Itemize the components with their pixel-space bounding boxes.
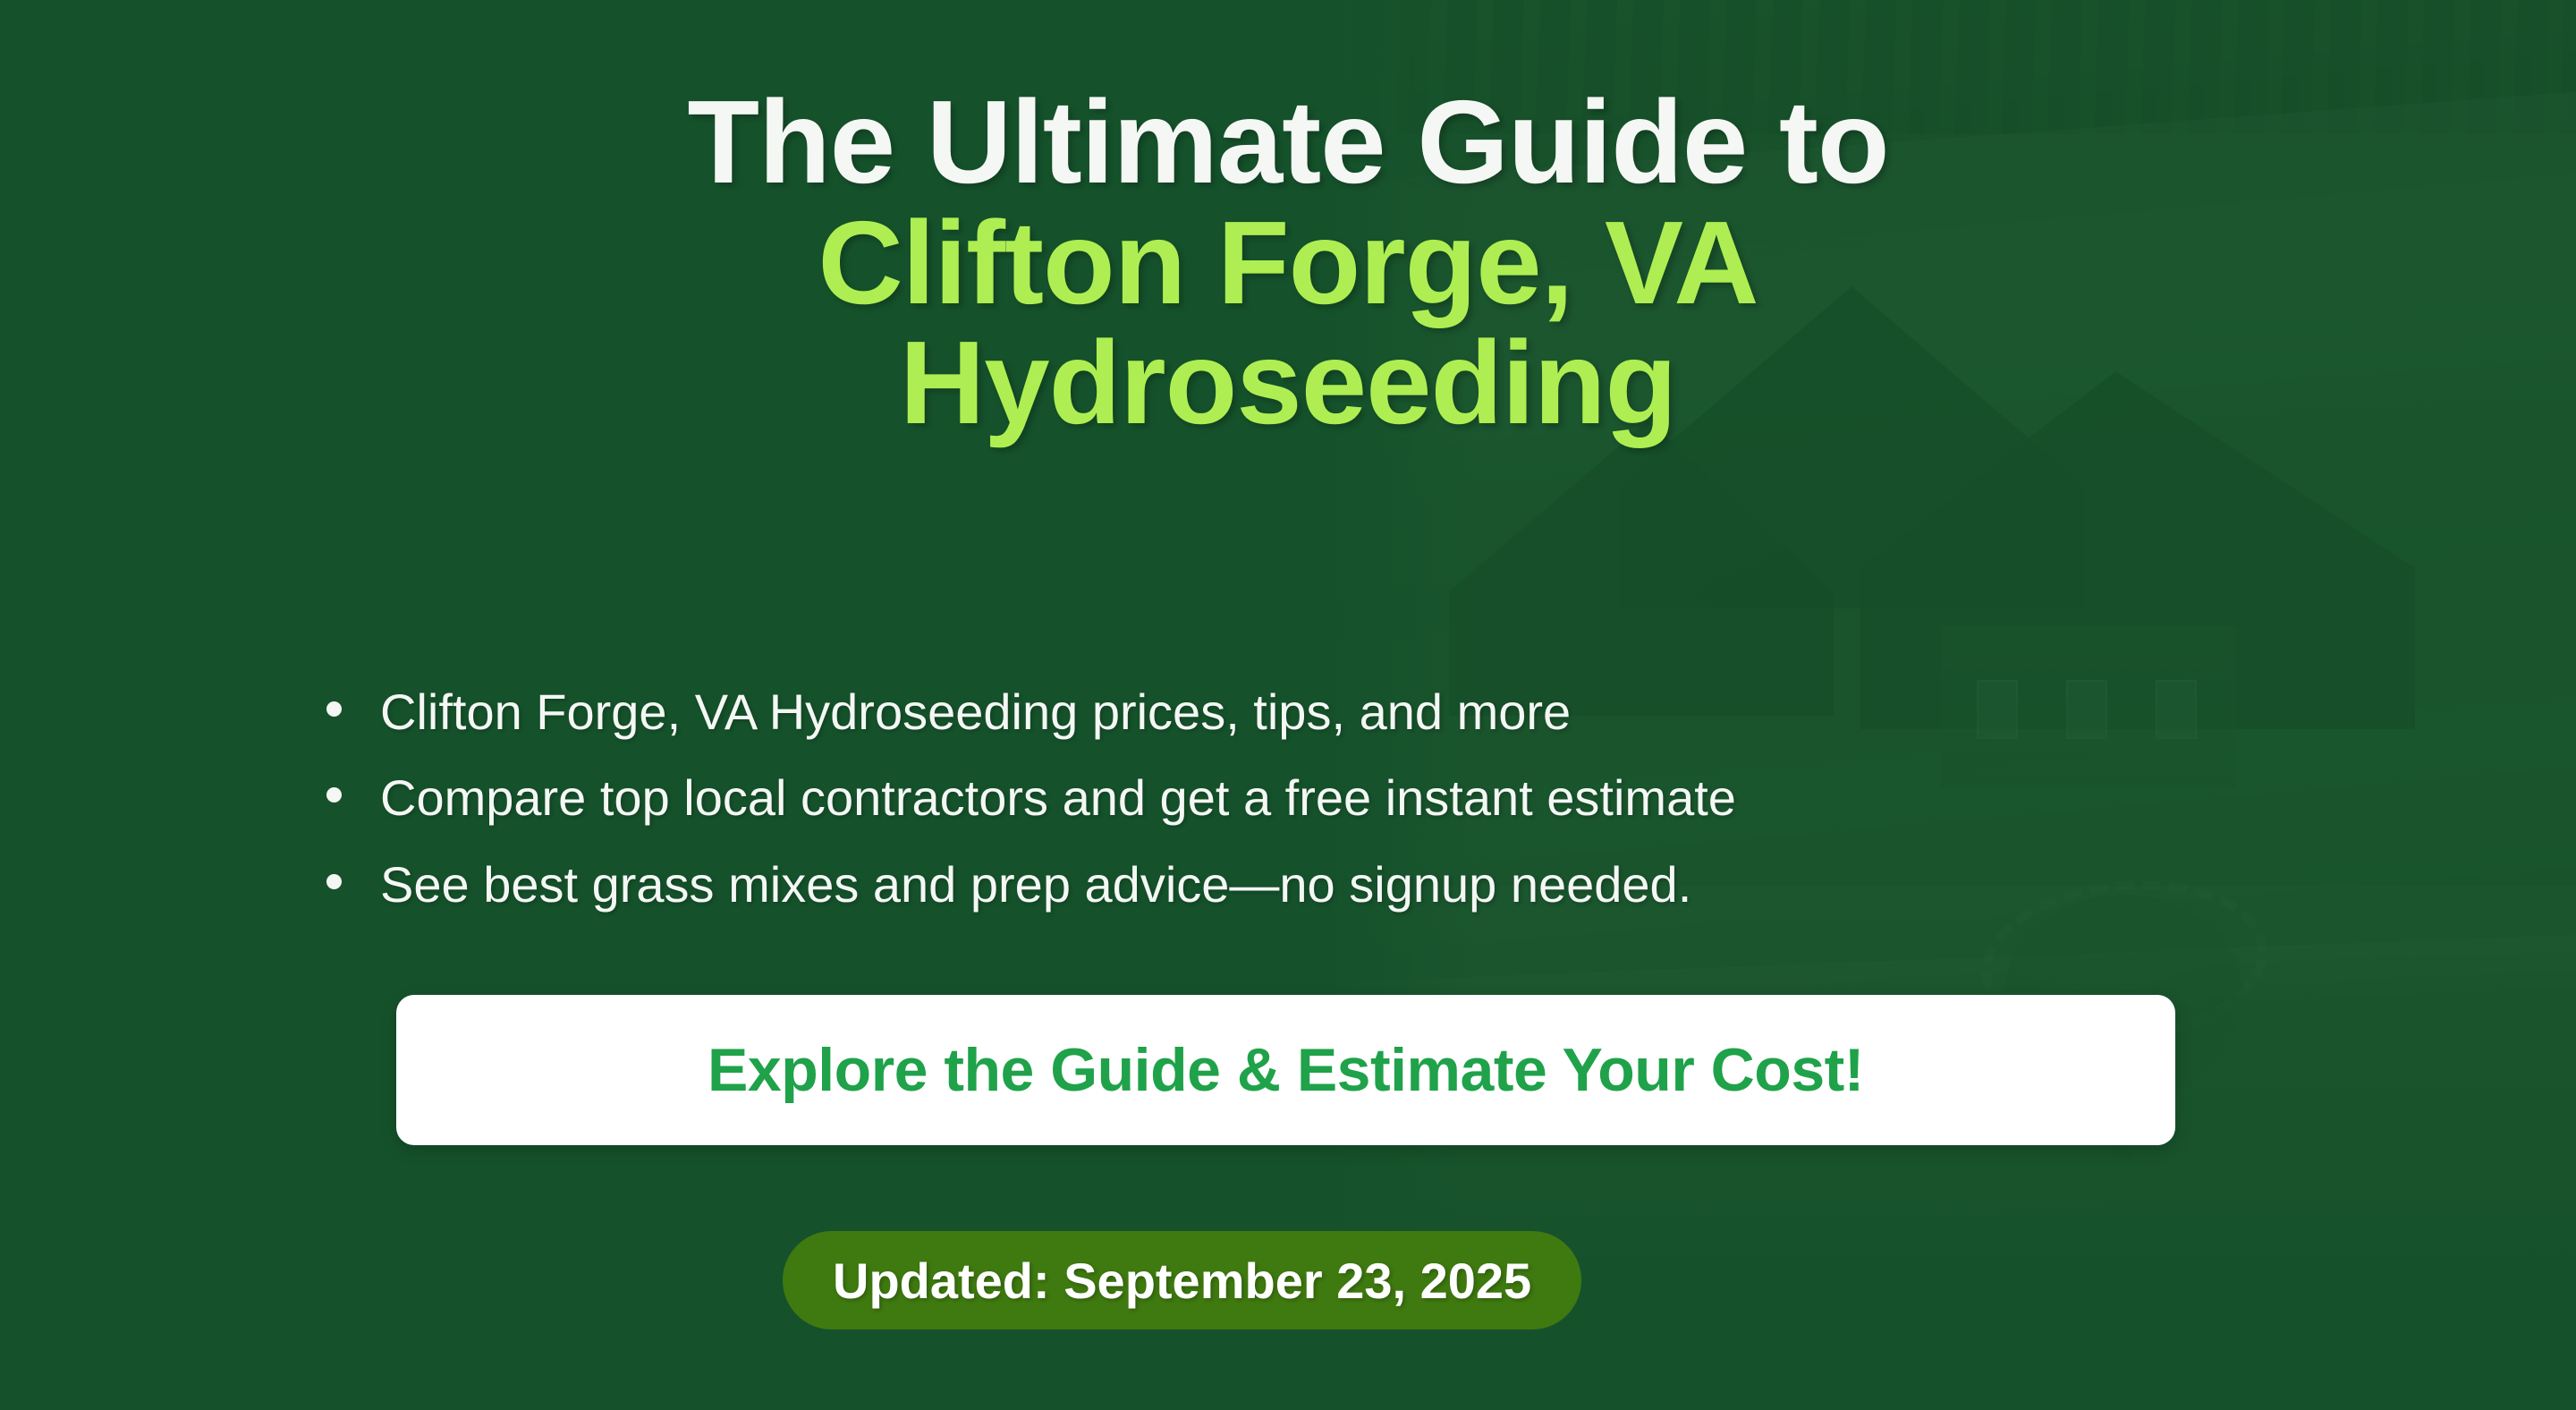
bullet-dot-icon [326, 874, 342, 889]
explore-guide-cta-button[interactable]: Explore the Guide & Estimate Your Cost! [396, 995, 2175, 1145]
feature-bullet-list: Clifton Forge, VA Hydroseeding prices, t… [326, 682, 2205, 940]
last-updated-label: Updated: September 23, 2025 [833, 1252, 1531, 1310]
hero-banner: The Ultimate Guide to Clifton Forge, VA … [0, 0, 2576, 1410]
last-updated-badge: Updated: September 23, 2025 [783, 1231, 1581, 1329]
list-item-label: Clifton Forge, VA Hydroseeding prices, t… [380, 682, 1571, 743]
page-title: The Ultimate Guide to Clifton Forge, VA … [0, 82, 2576, 444]
page-title-line-2: Clifton Forge, VA [0, 203, 2576, 324]
list-item: Compare top local contractors and get a … [326, 768, 2205, 828]
bullet-dot-icon [326, 787, 342, 803]
list-item-label: See best grass mixes and prep advice—no … [380, 854, 1691, 915]
page-title-line-1: The Ultimate Guide to [0, 82, 2576, 203]
bullet-dot-icon [326, 701, 342, 717]
list-item-label: Compare top local contractors and get a … [380, 768, 1736, 828]
list-item: Clifton Forge, VA Hydroseeding prices, t… [326, 682, 2205, 743]
page-title-line-3: Hydroseeding [0, 323, 2576, 444]
cta-button-label: Explore the Guide & Estimate Your Cost! [708, 1035, 1864, 1105]
list-item: See best grass mixes and prep advice—no … [326, 854, 2205, 915]
banner-content: The Ultimate Guide to Clifton Forge, VA … [0, 0, 2576, 1410]
